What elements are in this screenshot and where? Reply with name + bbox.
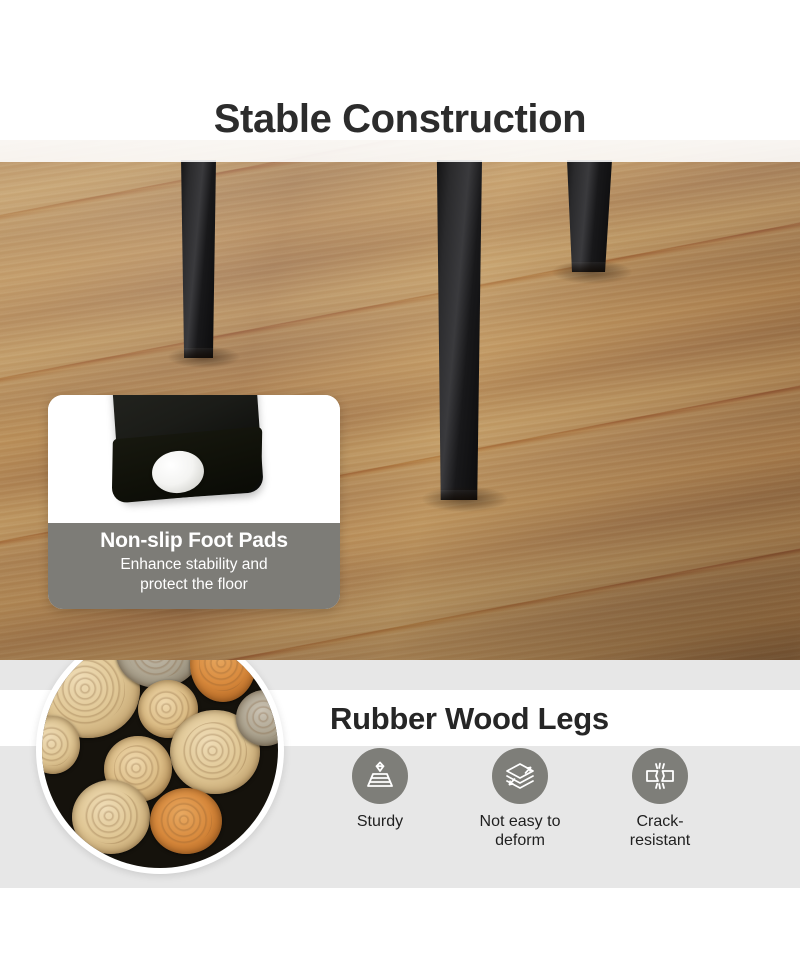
foot-pad-callout-card: Non-slip Foot Pads Enhance stability and… xyxy=(48,395,340,609)
bottom-section: Rubber Wood Legs xyxy=(0,660,800,888)
hero-title: Stable Construction xyxy=(0,99,800,139)
hero-section: Stable Construction Non-slip Foot Pads E… xyxy=(0,0,800,660)
feature-label: Sturdy xyxy=(320,812,440,831)
logs-photo xyxy=(42,660,278,868)
table-leg-left xyxy=(178,160,216,358)
table-leg-center xyxy=(434,160,482,500)
feature-label: Crack- resistant xyxy=(600,812,720,850)
foot-pad-caption-bar: Non-slip Foot Pads Enhance stability and… xyxy=(48,523,340,609)
foot-pad-title: Non-slip Foot Pads xyxy=(48,529,340,554)
feature-crack-resistant: Crack- resistant xyxy=(600,748,720,850)
log-slice xyxy=(150,788,222,854)
foot-pad-photo xyxy=(48,395,340,523)
feature-label-line1: Not easy to xyxy=(460,812,580,831)
foot-pad-subtitle-line1: Enhance stability and xyxy=(48,556,340,575)
feature-label: Not easy to deform xyxy=(460,812,580,850)
feature-sturdy: Sturdy xyxy=(320,748,440,850)
diamond-on-plank-icon xyxy=(352,748,408,804)
foot-pad-subtitle-line2: protect the floor xyxy=(48,576,340,595)
logs-photo-frame xyxy=(36,660,284,874)
feature-label-line1: Sturdy xyxy=(320,812,440,831)
product-feature-poster: Stable Construction Non-slip Foot Pads E… xyxy=(0,0,800,977)
log-slice xyxy=(72,780,150,854)
feature-label-line2: resistant xyxy=(600,831,720,850)
feature-label-line2: deform xyxy=(460,831,580,850)
stacked-boards-arrows-icon xyxy=(492,748,548,804)
feature-label-line1: Crack- xyxy=(600,812,720,831)
feature-not-easy-to-deform: Not easy to deform xyxy=(460,748,580,850)
bottom-title: Rubber Wood Legs xyxy=(330,696,760,743)
cracking-board-icon xyxy=(632,748,688,804)
feature-icon-row: Sturdy Not easy to xyxy=(320,748,720,850)
